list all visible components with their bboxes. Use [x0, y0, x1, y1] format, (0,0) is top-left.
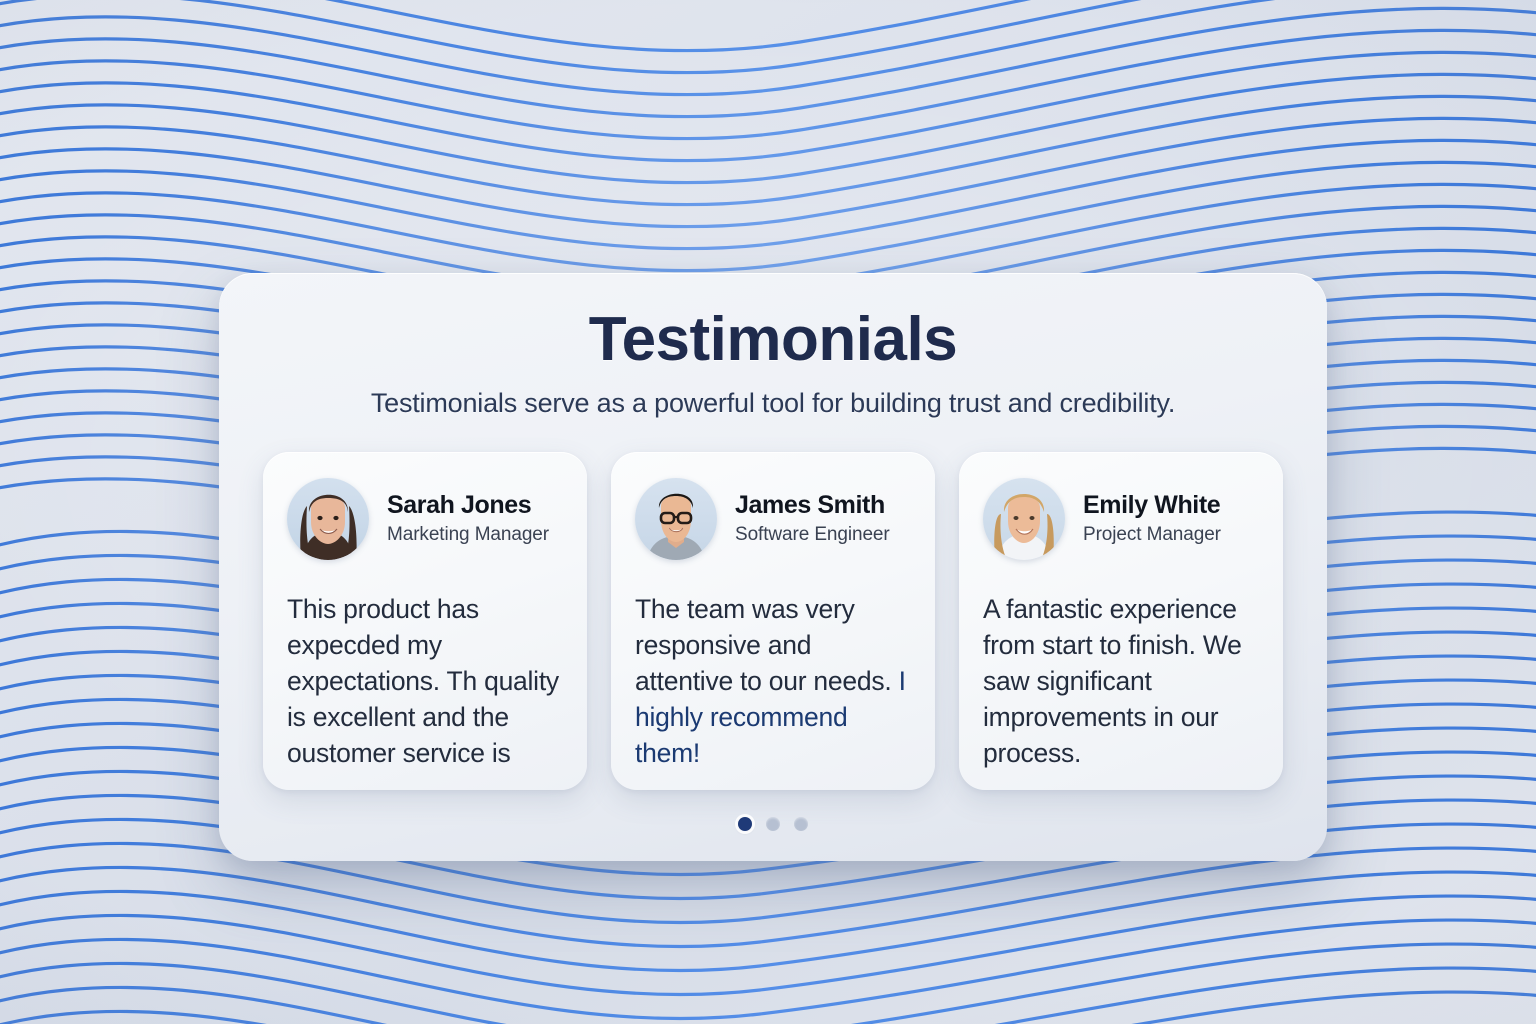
person-name: Emily White: [1083, 491, 1221, 520]
person-role: Software Engineer: [735, 523, 890, 547]
person-role: Marketing Manager: [387, 523, 549, 547]
testimonial-header: Emily White Project Manager: [983, 478, 1259, 560]
page-subtitle: Testimonials serve as a powerful tool fo…: [263, 388, 1283, 419]
testimonial-identity: Sarah Jones Marketing Manager: [387, 491, 549, 547]
pagination-dot-3[interactable]: [794, 817, 808, 831]
page-title: Testimonials: [263, 307, 1283, 372]
screen-root: Testimonials Testimonials serve as a pow…: [0, 0, 1536, 1024]
quote-text: This product has expecded my expectation…: [287, 594, 559, 768]
testimonial-card[interactable]: Sarah Jones Marketing Manager This produ…: [263, 452, 587, 790]
testimonial-identity: James Smith Software Engineer: [735, 491, 890, 547]
testimonial-card[interactable]: Emily White Project Manager A fantastic …: [959, 452, 1283, 790]
testimonial-quote: This product has expecded my expectation…: [287, 591, 563, 771]
testimonial-identity: Emily White Project Manager: [1083, 491, 1221, 547]
testimonial-header: James Smith Software Engineer: [635, 478, 911, 560]
avatar-sarah-jones-icon: [287, 478, 369, 560]
quote-text: A fantastic experience from start to fin…: [983, 594, 1242, 768]
avatar-james-smith-icon: [635, 478, 717, 560]
avatar-emily-white-icon: [983, 478, 1065, 560]
testimonials-panel: Testimonials Testimonials serve as a pow…: [219, 273, 1327, 861]
quote-text: The team was very responsive and attenti…: [635, 594, 891, 696]
person-name: Sarah Jones: [387, 491, 549, 520]
testimonial-card-list: Sarah Jones Marketing Manager This produ…: [263, 452, 1283, 790]
pagination-dot-1[interactable]: [738, 817, 752, 831]
testimonial-header: Sarah Jones Marketing Manager: [287, 478, 563, 560]
testimonial-card[interactable]: James Smith Software Engineer The team w…: [611, 452, 935, 790]
pagination-dot-2[interactable]: [766, 817, 780, 831]
carousel-pagination: [219, 817, 1327, 831]
testimonial-quote: The team was very responsive and attenti…: [635, 591, 911, 771]
person-role: Project Manager: [1083, 523, 1221, 547]
person-name: James Smith: [735, 491, 890, 520]
testimonial-quote: A fantastic experience from start to fin…: [983, 591, 1259, 771]
